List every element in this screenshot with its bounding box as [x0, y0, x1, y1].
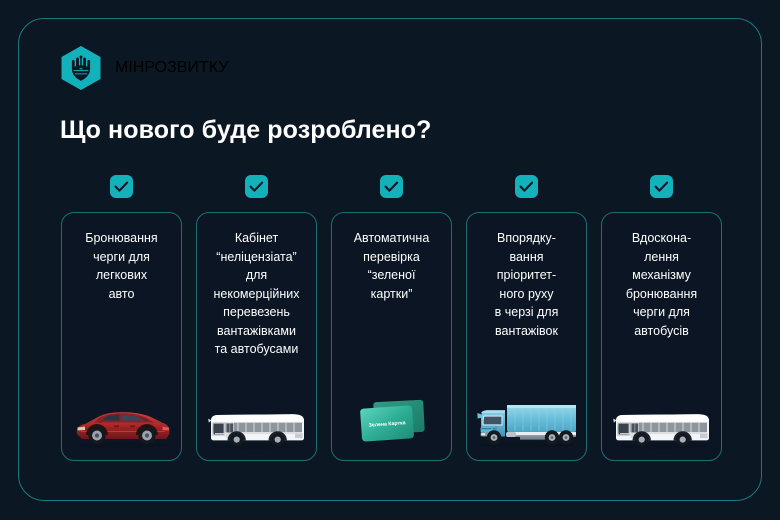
- feature-card-text: Автоматична перевірка “зеленої картки”: [354, 229, 430, 303]
- feature-card-item: Вдоскона- лення механізму бронювання чер…: [601, 175, 722, 461]
- check-icon: [245, 175, 268, 198]
- page-title: Що нового буде розроблено?: [60, 116, 431, 145]
- feature-card: Автоматична перевірка “зеленої картки”: [331, 212, 452, 461]
- ukraine-trident-hexagon-icon: [60, 45, 102, 91]
- white-bus-illustration: [203, 380, 311, 450]
- blue-truck-illustration: [473, 380, 581, 450]
- feature-card-item: Бронювання черги для легкових авто: [61, 175, 182, 461]
- feature-card: Кабінет “неліцензіата” для некомерційних…: [196, 212, 317, 461]
- check-icon: [515, 175, 538, 198]
- feature-card-text: Кабінет “неліцензіата” для некомерційних…: [214, 229, 300, 359]
- check-icon: [380, 175, 403, 198]
- feature-card-item: Впорядку- вання пріоритет- ного руху в ч…: [466, 175, 587, 461]
- feature-card: Вдоскона- лення механізму бронювання чер…: [601, 212, 722, 461]
- feature-card-item: Кабінет “неліцензіата” для некомерційних…: [196, 175, 317, 461]
- check-icon: [110, 175, 133, 198]
- feature-card-item: Автоматична перевірка “зеленої картки”: [331, 175, 452, 461]
- feature-card-text: Бронювання черги для легкових авто: [85, 229, 157, 303]
- feature-cards-list: Бронювання черги для легкових авто: [61, 175, 719, 461]
- feature-card-text: Вдоскона- лення механізму бронювання чер…: [626, 229, 697, 340]
- white-bus-illustration: [608, 380, 716, 450]
- feature-card-text: Впорядку- вання пріоритет- ного руху в ч…: [495, 229, 559, 340]
- green-card-illustration: Зелена Картка: [338, 380, 446, 450]
- check-icon: [650, 175, 673, 198]
- brand-logo-row: МІНРОЗВИТКУ: [60, 46, 228, 90]
- feature-card: Впорядку- вання пріоритет- ного руху в ч…: [466, 212, 587, 461]
- brand-name-label: МІНРОЗВИТКУ: [115, 59, 228, 77]
- feature-card: Бронювання черги для легкових авто: [61, 212, 182, 461]
- red-sedan-car-illustration: [68, 380, 176, 450]
